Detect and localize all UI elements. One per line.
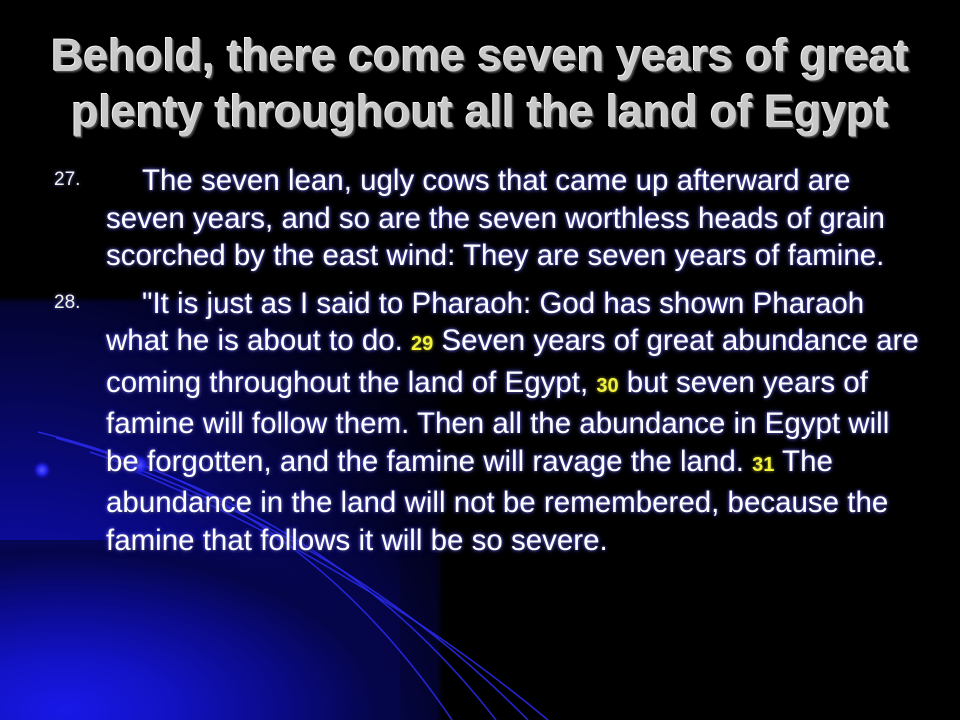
verse-paragraph: 27.The seven lean, ugly cows that came u… [44, 162, 922, 275]
verse-text-run: The seven lean, ugly cows that came up a… [106, 164, 885, 272]
blue-radial-glow-secondary [0, 540, 400, 720]
verse-list-marker: 28. [54, 293, 80, 312]
inline-verse-number: 29 [411, 333, 433, 355]
slide-body: 27.The seven lean, ugly cows that came u… [44, 162, 922, 559]
slide-title-text: Behold, there come seven years of great … [24, 28, 936, 140]
verse-paragraph: 28."It is just as I said to Pharaoh: God… [44, 285, 922, 560]
inline-verse-number: 30 [596, 375, 618, 397]
presentation-slide: Behold, there come seven years of great … [0, 0, 960, 720]
inline-verse-number: 31 [752, 454, 774, 476]
slide-title: Behold, there come seven years of great … [24, 28, 936, 140]
verse-list-marker: 27. [54, 170, 80, 189]
